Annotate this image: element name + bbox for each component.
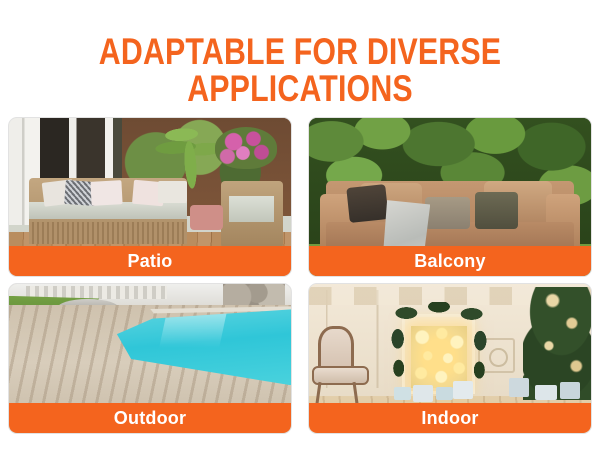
indoor-armchair-back <box>318 326 355 371</box>
indoor-gift-box <box>413 385 433 401</box>
application-card-balcony[interactable]: Balcony <box>308 117 592 277</box>
application-card-patio[interactable]: Patio <box>8 117 292 277</box>
indoor-armchair-leg <box>353 381 359 403</box>
patio-hanging-flowers <box>215 127 277 168</box>
balcony-cushion <box>347 184 390 223</box>
page-title: ADAPTABLE FOR DIVERSE APPLICATIONS <box>54 33 546 107</box>
application-card-outdoor[interactable]: Outdoor <box>8 283 292 434</box>
application-card-grid: Patio Balcony <box>8 117 592 434</box>
patio-cushion <box>158 181 186 203</box>
outdoor-rock-wall <box>223 284 285 305</box>
balcony-cushion <box>425 197 470 229</box>
card-label-balcony: Balcony <box>309 246 591 276</box>
indoor-gift-box <box>436 387 453 400</box>
indoor-gift-box <box>535 385 558 400</box>
indoor-gift-box <box>509 378 529 397</box>
application-card-indoor[interactable]: Indoor <box>308 283 592 434</box>
indoor-gift-box <box>560 382 580 398</box>
patio-cushion <box>90 180 122 205</box>
indoor-armchair <box>312 326 371 403</box>
card-label-patio: Patio <box>9 246 291 276</box>
indoor-armchair-leg <box>315 381 321 403</box>
patio-wicker-armchair <box>221 181 283 247</box>
indoor-christmas-tree <box>523 287 591 400</box>
indoor-gift-box <box>394 387 411 400</box>
promo-banner: ADAPTABLE FOR DIVERSE APPLICATIONS <box>0 0 600 450</box>
balcony-cushion <box>475 192 517 228</box>
indoor-gift-box <box>453 381 473 399</box>
card-label-indoor: Indoor <box>309 403 591 433</box>
patio-pink-pouf <box>190 205 224 230</box>
indoor-garland <box>391 302 487 394</box>
card-label-outdoor: Outdoor <box>9 403 291 433</box>
